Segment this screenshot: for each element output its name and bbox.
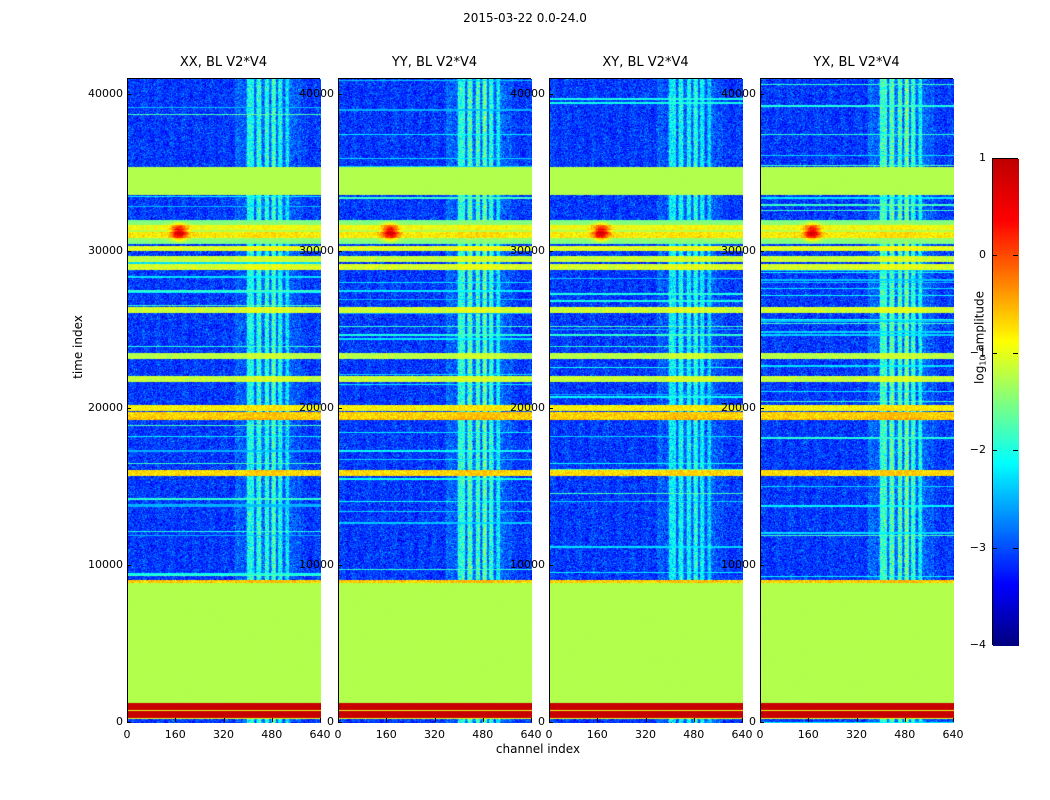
y-tick-mark xyxy=(549,94,553,95)
x-tick-mark xyxy=(386,718,387,722)
waterfall-panel-yx[interactable]: YX, BL V2*V4 xyxy=(760,78,953,722)
panel-title-yx: YX, BL V2*V4 xyxy=(760,55,953,70)
y-tick-label: 40000 xyxy=(491,87,545,100)
colorbar-tick-mark xyxy=(1013,548,1018,549)
y-tick-mark xyxy=(338,565,342,566)
y-tick-label: 40000 xyxy=(69,87,123,100)
y-tick-label: 20000 xyxy=(280,401,334,414)
x-tick-label: 320 xyxy=(412,728,458,741)
x-tick-mark xyxy=(549,718,550,722)
y-tick-mark xyxy=(760,251,764,252)
y-tick-mark xyxy=(760,94,764,95)
x-tick-label: 0 xyxy=(526,728,572,741)
x-tick-mark xyxy=(808,718,809,722)
y-tick-label: 20000 xyxy=(491,401,545,414)
x-tick-mark xyxy=(857,718,858,722)
y-tick-label: 0 xyxy=(69,715,123,728)
x-tick-label: 480 xyxy=(671,728,717,741)
y-tick-mark xyxy=(338,722,342,723)
y-tick-mark xyxy=(760,565,764,566)
x-tick-label: 320 xyxy=(834,728,880,741)
colorbar-tick-label: 1 xyxy=(979,151,986,164)
y-tick-mark xyxy=(127,94,131,95)
colorbar-tick-mark xyxy=(992,450,997,451)
x-tick-mark xyxy=(272,718,273,722)
colorbar-tick-label: 0 xyxy=(979,248,986,261)
y-tick-mark xyxy=(338,408,342,409)
y-tick-label: 30000 xyxy=(702,244,756,257)
x-tick-mark xyxy=(905,718,906,722)
colorbar-tick-mark xyxy=(992,548,997,549)
colorbar-label-prefix: log xyxy=(973,366,987,384)
y-tick-label: 30000 xyxy=(69,244,123,257)
x-tick-label: 480 xyxy=(249,728,295,741)
x-tick-mark xyxy=(127,718,128,722)
colorbar-tick-label: −3 xyxy=(970,541,986,554)
y-tick-mark xyxy=(549,251,553,252)
x-tick-label: 320 xyxy=(623,728,669,741)
x-tick-mark xyxy=(435,718,436,722)
panel-axes-yx xyxy=(760,78,953,722)
panel-title-xy: XY, BL V2*V4 xyxy=(549,55,742,70)
x-tick-mark xyxy=(224,718,225,722)
x-tick-mark xyxy=(597,718,598,722)
panel-title-xx: XX, BL V2*V4 xyxy=(127,55,320,70)
colorbar-tick-mark xyxy=(1013,353,1018,354)
x-tick-label: 0 xyxy=(104,728,150,741)
x-axis-label: channel index xyxy=(127,742,949,756)
panel-title-yy: YY, BL V2*V4 xyxy=(338,55,531,70)
x-tick-label: 160 xyxy=(152,728,198,741)
colorbar-tick-mark xyxy=(1013,450,1018,451)
colorbar-tick-mark xyxy=(992,255,997,256)
x-tick-label: 0 xyxy=(737,728,783,741)
y-tick-label: 10000 xyxy=(702,558,756,571)
colorbar-label: log10 amplitude xyxy=(973,238,988,438)
y-tick-mark xyxy=(549,722,553,723)
y-tick-mark xyxy=(127,722,131,723)
y-tick-label: 20000 xyxy=(702,401,756,414)
colorbar-box xyxy=(992,158,1018,645)
y-tick-label: 0 xyxy=(280,715,334,728)
y-tick-label: 40000 xyxy=(280,87,334,100)
colorbar-tick-mark xyxy=(992,353,997,354)
colorbar-tick-mark xyxy=(1013,255,1018,256)
colorbar[interactable] xyxy=(992,158,1018,645)
x-tick-mark xyxy=(646,718,647,722)
colorbar-tick-label: −2 xyxy=(970,443,986,456)
x-tick-label: 160 xyxy=(574,728,620,741)
y-tick-mark xyxy=(760,722,764,723)
figure-suptitle: 2015-03-22 0.0-24.0 xyxy=(0,11,1050,25)
x-tick-mark xyxy=(953,718,954,722)
y-tick-mark xyxy=(127,565,131,566)
x-tick-label: 160 xyxy=(785,728,831,741)
x-tick-label: 480 xyxy=(460,728,506,741)
y-tick-label: 10000 xyxy=(69,558,123,571)
x-tick-mark xyxy=(175,718,176,722)
y-tick-mark xyxy=(549,408,553,409)
x-tick-label: 320 xyxy=(201,728,247,741)
x-tick-label: 480 xyxy=(882,728,928,741)
x-tick-label: 640 xyxy=(930,728,976,741)
x-tick-label: 0 xyxy=(315,728,361,741)
y-tick-label: 40000 xyxy=(702,87,756,100)
x-tick-mark xyxy=(338,718,339,722)
y-tick-label: 0 xyxy=(702,715,756,728)
y-tick-mark xyxy=(760,408,764,409)
y-tick-mark xyxy=(127,251,131,252)
y-tick-mark xyxy=(549,565,553,566)
y-tick-label: 30000 xyxy=(280,244,334,257)
figure-canvas: 2015-03-22 0.0-24.0 time index channel i… xyxy=(0,0,1050,800)
y-tick-label: 20000 xyxy=(69,401,123,414)
y-tick-label: 0 xyxy=(491,715,545,728)
y-tick-mark xyxy=(127,408,131,409)
x-tick-mark xyxy=(694,718,695,722)
x-tick-label: 160 xyxy=(363,728,409,741)
x-tick-mark xyxy=(483,718,484,722)
y-tick-label: 10000 xyxy=(491,558,545,571)
y-tick-label: 30000 xyxy=(491,244,545,257)
y-tick-mark xyxy=(338,94,342,95)
colorbar-tick-label: −1 xyxy=(970,346,986,359)
colorbar-tick-label: −4 xyxy=(970,638,986,651)
y-tick-mark xyxy=(338,251,342,252)
y-tick-label: 10000 xyxy=(280,558,334,571)
x-tick-mark xyxy=(760,718,761,722)
